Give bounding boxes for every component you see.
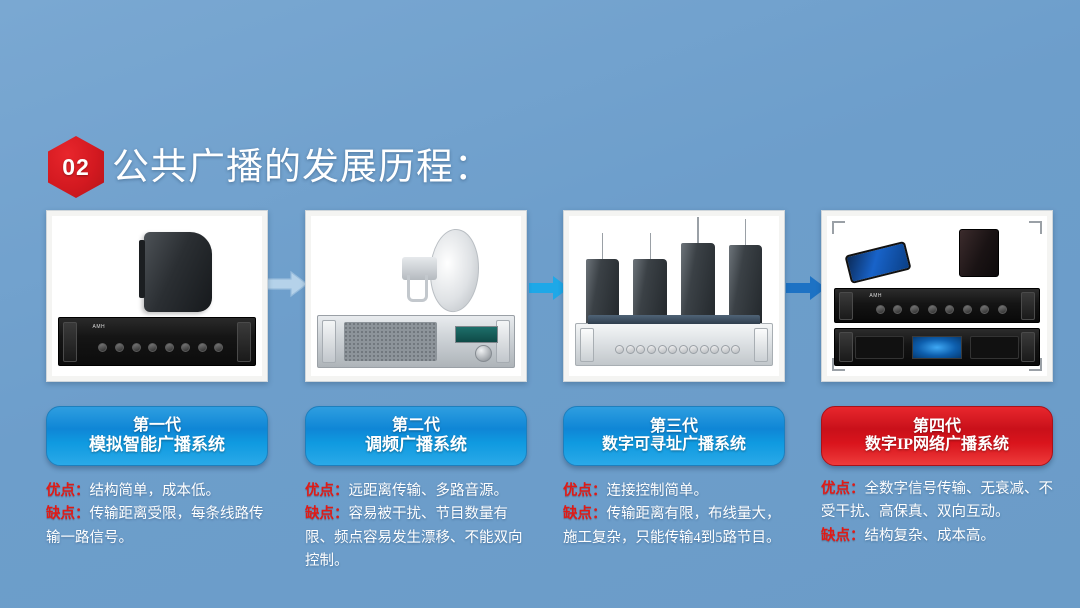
smartphone-image: [844, 241, 911, 284]
slide-title-row: 02 公共广播的发展历程：: [48, 136, 492, 198]
cons-line: 缺点：结构复杂、成本高。: [821, 525, 1053, 548]
generation-index-label: 第四代: [913, 418, 961, 436]
generation-column-4: AMH 第四代 数字IP网络广播系统: [821, 210, 1053, 548]
generation-notes-2: 优点：远距离传输、多路音源。 缺点：容易被干扰、节目数量有限、频点容易发生漂移、…: [305, 480, 527, 574]
corner-bracket-icon: [1029, 221, 1042, 234]
cons-label: 缺点：: [305, 506, 349, 522]
device-brand-label: AMH: [93, 324, 106, 330]
corner-bracket-icon: [832, 221, 845, 234]
generation-name-label: 数字IP网络广播系统: [865, 436, 1009, 454]
pros-line: 优点：远距离传输、多路音源。: [305, 480, 527, 503]
addressable-host-image: [575, 323, 772, 366]
pros-label: 优点：: [563, 483, 607, 499]
generation-photo-3: [563, 210, 785, 382]
cons-line: 缺点：传输距离受限，每条线路传输一路信号。: [46, 503, 268, 550]
amplifier-rack-image: AMH: [58, 317, 255, 367]
pros-line: 优点：全数字信号传输、无衰减、不受干扰、高保真、双向互动。: [821, 478, 1053, 525]
pros-line: 优点：结构简单，成本低。: [46, 480, 268, 503]
cons-label: 缺点：: [46, 506, 90, 522]
fm-transmitter-image: AMH: [317, 315, 514, 368]
generation-column-3: 第三代 数字可寻址广播系统 优点：连接控制简单。 缺点：传输距离有限，布线量大，…: [563, 210, 785, 550]
generation-name-label: 数字可寻址广播系统: [602, 436, 746, 454]
generation-index-label: 第一代: [133, 417, 181, 435]
pros-label: 优点：: [821, 481, 865, 497]
pros-label: 优点：: [305, 483, 349, 499]
pros-text: 远距离传输、多路音源。: [349, 483, 509, 499]
section-number-badge: 02: [48, 136, 104, 198]
generation-notes-4: 优点：全数字信号传输、无衰减、不受干扰、高保真、双向互动。 缺点：结构复杂、成本…: [821, 478, 1053, 548]
column-speakers-image: [586, 226, 762, 325]
ip-amplifier-image: AMH: [834, 288, 1041, 323]
generation-columns: AMH 第一代 模拟智能广播系统 优点：结构简单，成本低。 缺点：传输距离受限，…: [0, 210, 1080, 608]
generation-notes-3: 优点：连接控制简单。 缺点：传输距离有限，布线量大，施工复杂，只能传输4到5路节…: [563, 480, 785, 550]
generation-pill-4: 第四代 数字IP网络广播系统: [821, 406, 1053, 466]
generation-column-1: AMH 第一代 模拟智能广播系统 优点：结构简单，成本低。 缺点：传输距离受限，…: [46, 210, 268, 550]
generation-name-label: 模拟智能广播系统: [89, 435, 225, 455]
pros-text: 连接控制简单。: [607, 483, 709, 499]
page-title: 公共广播的发展历程：: [112, 149, 492, 186]
cons-label: 缺点：: [821, 528, 865, 544]
ip-network-host-image: [834, 328, 1041, 366]
generation-photo-1: AMH: [46, 210, 268, 382]
generation-pill-1: 第一代 模拟智能广播系统: [46, 406, 268, 466]
box-speaker-image: [959, 229, 999, 277]
section-number-label: 02: [62, 154, 90, 181]
generation-pill-2: 第二代 调频广播系统: [305, 406, 527, 466]
generation-photo-4: AMH: [821, 210, 1053, 382]
generation-pill-3: 第三代 数字可寻址广播系统: [563, 406, 785, 466]
wall-speaker-image: [144, 232, 211, 312]
generation-index-label: 第二代: [392, 417, 440, 435]
cons-line: 缺点：容易被干扰、节目数量有限、频点容易发生漂移、不能双向控制。: [305, 503, 527, 573]
generation-photo-2: AMH: [305, 210, 527, 382]
device-brand-label: AMH: [869, 293, 882, 299]
generation-index-label: 第三代: [650, 418, 698, 436]
generation-column-2: AMH 第二代 调频广播系统 优点：远距离传输、多路音源。 缺点：容易被干扰、节…: [305, 210, 527, 574]
pros-text: 结构简单，成本低。: [90, 483, 221, 499]
generation-notes-1: 优点：结构简单，成本低。 缺点：传输距离受限，每条线路传输一路信号。: [46, 480, 268, 550]
horn-speaker-image: [399, 229, 479, 312]
pros-line: 优点：连接控制简单。: [563, 480, 785, 503]
cons-label: 缺点：: [563, 506, 607, 522]
pros-label: 优点：: [46, 483, 90, 499]
cons-text: 结构复杂、成本高。: [865, 528, 996, 544]
generation-name-label: 调频广播系统: [365, 435, 467, 455]
cons-line: 缺点：传输距离有限，布线量大，施工复杂，只能传输4到5路节目。: [563, 503, 785, 550]
